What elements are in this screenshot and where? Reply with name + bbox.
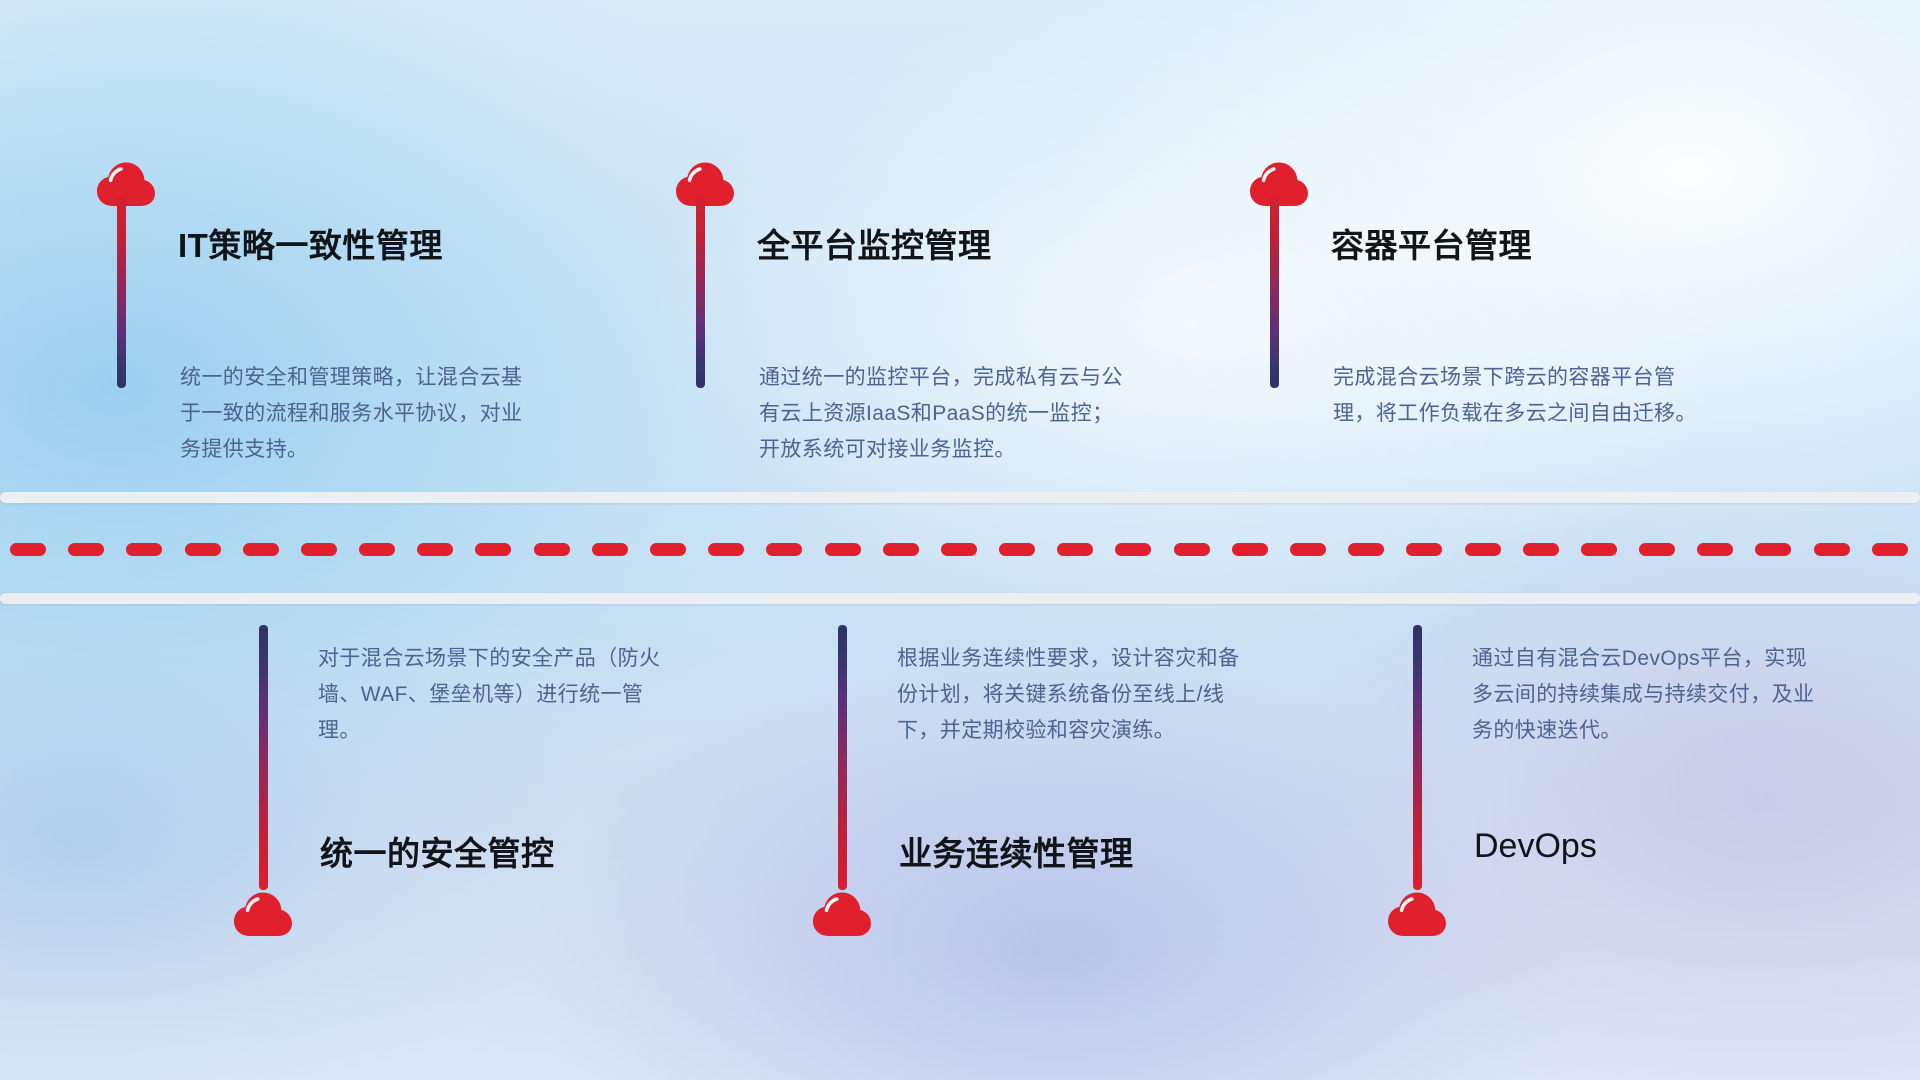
divider-dash bbox=[1115, 543, 1151, 556]
feature-description: 完成混合云场景下跨云的容器平台管理，将工作负载在多云之间自由迁移。 bbox=[1333, 360, 1708, 432]
feature-title: 统一的安全管控 bbox=[320, 827, 555, 875]
divider-dash bbox=[941, 543, 977, 556]
divider-dash bbox=[243, 543, 279, 556]
connector-stem bbox=[838, 625, 847, 890]
divider-dash bbox=[1174, 543, 1210, 556]
divider-dash bbox=[475, 543, 511, 556]
divider-dash bbox=[999, 543, 1035, 556]
divider-dash bbox=[650, 543, 686, 556]
infographic-canvas: IT策略一致性管理 统一的安全和管理策略，让混合云基于一致的流程和服务水平协议，… bbox=[0, 0, 1920, 1080]
divider-dash bbox=[592, 543, 628, 556]
feature-description: 通过自有混合云DevOps平台，实现多云间的持续集成与持续交付，及业务的快速迭代… bbox=[1472, 641, 1827, 749]
divider-dash bbox=[1697, 543, 1733, 556]
feature-title: 容器平台管理 bbox=[1331, 219, 1532, 267]
feature-title: 全平台监控管理 bbox=[757, 219, 992, 267]
divider-dash bbox=[10, 543, 46, 556]
divider-dash bbox=[1639, 543, 1675, 556]
divider-rail-top bbox=[0, 492, 1920, 503]
divider-dash bbox=[301, 543, 337, 556]
cloud-icon bbox=[811, 890, 873, 938]
divider-dash bbox=[417, 543, 453, 556]
cloud-icon bbox=[95, 160, 157, 208]
divider-dash bbox=[1523, 543, 1559, 556]
divider-dash bbox=[766, 543, 802, 556]
divider-dash bbox=[1348, 543, 1384, 556]
divider-dash bbox=[1290, 543, 1326, 556]
feature-title: IT策略一致性管理 bbox=[178, 219, 443, 267]
divider-dash bbox=[1581, 543, 1617, 556]
cloud-icon bbox=[1386, 890, 1448, 938]
divider-dash bbox=[1057, 543, 1093, 556]
divider-dash bbox=[1465, 543, 1501, 556]
divider-dashed-line bbox=[0, 543, 1920, 556]
divider-dash bbox=[1872, 543, 1908, 556]
divider-dash bbox=[534, 543, 570, 556]
divider-dash bbox=[1814, 543, 1850, 556]
feature-description: 根据业务连续性要求，设计容灾和备份计划，将关键系统备份至线上/线下，并定期校验和… bbox=[897, 641, 1252, 749]
feature-description: 对于混合云场景下的安全产品（防火墙、WAF、堡垒机等）进行统一管理。 bbox=[318, 641, 673, 749]
connector-stem bbox=[259, 625, 268, 890]
divider-dash bbox=[1755, 543, 1791, 556]
divider-dash bbox=[126, 543, 162, 556]
divider-dash bbox=[1232, 543, 1268, 556]
cloud-icon bbox=[232, 890, 294, 938]
feature-description: 统一的安全和管理策略，让混合云基于一致的流程和服务水平协议，对业务提供支持。 bbox=[180, 360, 535, 468]
divider-dash bbox=[825, 543, 861, 556]
divider-dash bbox=[185, 543, 221, 556]
feature-title: DevOps bbox=[1474, 827, 1597, 866]
divider-dash bbox=[68, 543, 104, 556]
connector-stem bbox=[117, 196, 126, 388]
connector-stem bbox=[1270, 196, 1279, 388]
divider-rail-bottom bbox=[0, 593, 1920, 604]
divider-dash bbox=[883, 543, 919, 556]
feature-title: 业务连续性管理 bbox=[899, 827, 1134, 875]
cloud-icon bbox=[674, 160, 736, 208]
divider-dash bbox=[708, 543, 744, 556]
cloud-icon bbox=[1248, 160, 1310, 208]
connector-stem bbox=[696, 196, 705, 388]
divider-dash bbox=[1406, 543, 1442, 556]
feature-description: 通过统一的监控平台，完成私有云与公有云上资源IaaS和PaaS的统一监控；开放系… bbox=[759, 360, 1134, 468]
divider-dash bbox=[359, 543, 395, 556]
connector-stem bbox=[1413, 625, 1422, 890]
